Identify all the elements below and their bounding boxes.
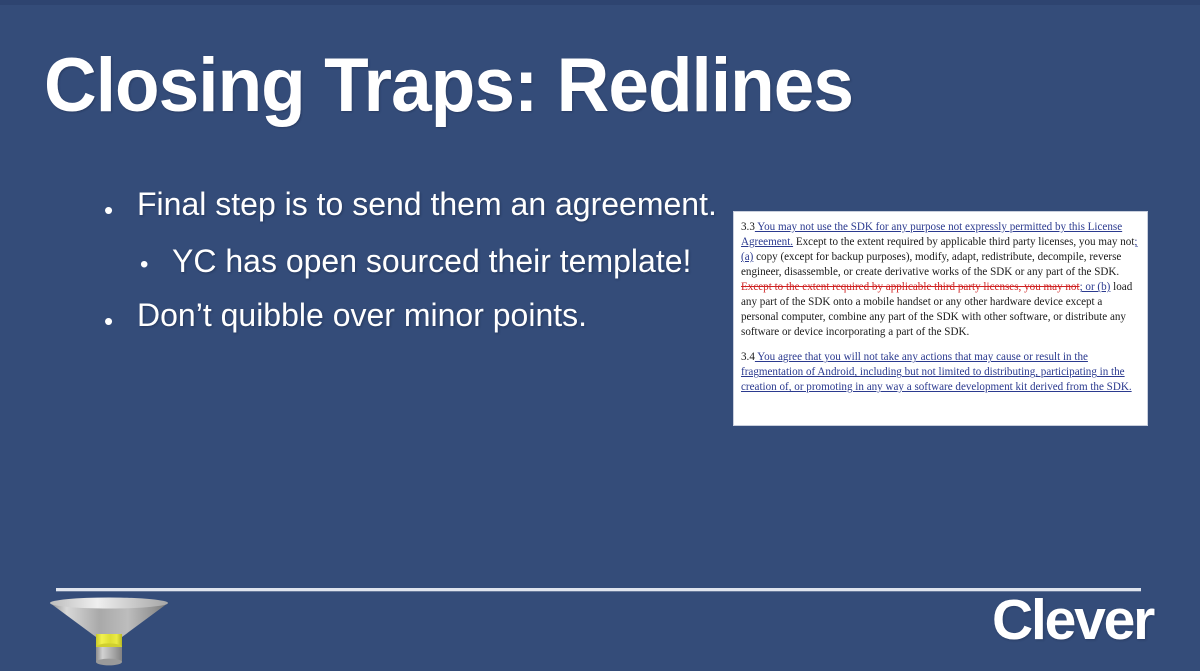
- list-item: • Final step is to send them an agreemen…: [104, 184, 724, 225]
- redline-run-insert: You agree that you will not take any act…: [741, 351, 1132, 393]
- redline-run-insert: ; or (b): [1080, 281, 1111, 293]
- clever-logo: Clever: [992, 592, 1153, 649]
- bullet-marker-icon: •: [104, 184, 137, 223]
- redline-run-normal: copy (except for backup purposes), modif…: [741, 251, 1121, 278]
- funnel-icon: [48, 596, 170, 666]
- bullet-marker-icon: •: [104, 295, 137, 334]
- list-item-label: Final step is to send them an agreement.: [137, 184, 717, 225]
- footer-divider: [56, 588, 1141, 591]
- section-runs-3-3: You may not use the SDK for any purpose …: [741, 221, 1138, 338]
- bullet-marker-icon: •: [140, 241, 172, 277]
- redline-document-image: 3.3 You may not use the SDK for any purp…: [733, 211, 1148, 426]
- redline-run-delete: Except to the extent required by applica…: [741, 281, 1080, 293]
- section-runs-3-4: You agree that you will not take any act…: [741, 351, 1132, 393]
- list-item-label: Don’t quibble over minor points.: [137, 295, 587, 336]
- list-item-label: YC has open sourced their template!: [172, 241, 691, 282]
- bullet-list: • Final step is to send them an agreemen…: [104, 184, 724, 340]
- list-item: • Don’t quibble over minor points.: [104, 295, 724, 336]
- page-title: Closing Traps: Redlines: [44, 46, 853, 126]
- list-item: • YC has open sourced their template!: [140, 241, 724, 282]
- redline-run-normal: Except to the extent required by applica…: [793, 236, 1134, 248]
- redline-section-3-4: 3.4 You agree that you will not take any…: [741, 350, 1140, 395]
- section-number: 3.4: [741, 351, 755, 363]
- paragraph-spacer: [741, 340, 1140, 350]
- section-number: 3.3: [741, 221, 755, 233]
- top-accent-strip: [0, 0, 1200, 5]
- redline-section-3-3: 3.3 You may not use the SDK for any purp…: [741, 220, 1140, 340]
